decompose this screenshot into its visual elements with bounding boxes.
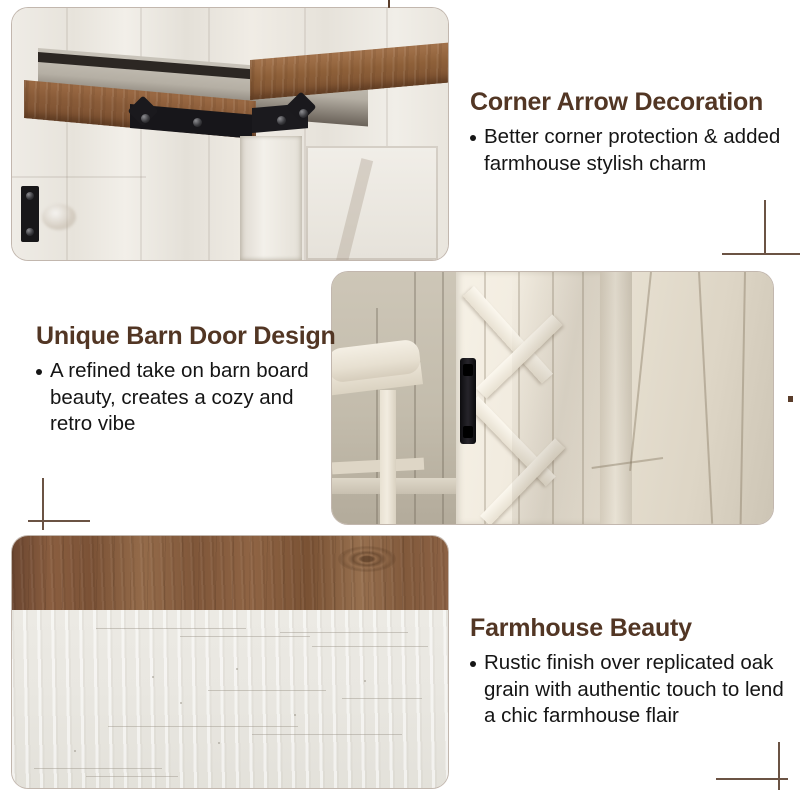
cabinet-hinge-hardware [21,186,39,242]
photo-unique-barn-door-design [332,272,773,524]
feature-photo-corner-arrow-decoration [12,8,448,260]
crosshair-top-right-icon [722,200,800,260]
feature-text-farmhouse-beauty: Farmhouse Beauty Rustic finish over repl… [470,614,796,730]
feature-photo-farmhouse-beauty [12,536,448,788]
feature-bullet-list-corner-arrow-decoration: Better corner protection & added farmhou… [470,124,796,177]
crosshair-bottom-left-icon [22,478,90,536]
crosshair-bottom-right-icon [716,742,800,800]
feature-heading-unique-barn-door-design: Unique Barn Door Design [36,322,336,351]
feature-text-unique-barn-door-design: Unique Barn Door Design A refined take o… [36,322,336,438]
feature-bullet-list-farmhouse-beauty: Rustic finish over replicated oak grain … [470,650,796,730]
photo-corner-arrow-decoration [12,8,448,260]
feature-heading-farmhouse-beauty: Farmhouse Beauty [470,614,796,643]
feature-bullet: Rustic finish over replicated oak grain … [470,650,796,730]
tick-right-edge-icon [788,396,793,402]
feature-bullet: A refined take on barn board beauty, cre… [36,358,336,438]
feature-bullet-list-unique-barn-door-design: A refined take on barn board beauty, cre… [36,358,336,438]
photo-farmhouse-beauty [12,536,448,788]
feature-photo-unique-barn-door-design [332,272,773,524]
infographic-canvas: Corner Arrow Decoration Better corner pr… [0,0,800,800]
feature-heading-corner-arrow-decoration: Corner Arrow Decoration [470,88,796,117]
feature-bullet: Better corner protection & added farmhou… [470,124,796,177]
barn-door-handle [460,358,476,444]
feature-text-corner-arrow-decoration: Corner Arrow Decoration Better corner pr… [470,88,796,177]
